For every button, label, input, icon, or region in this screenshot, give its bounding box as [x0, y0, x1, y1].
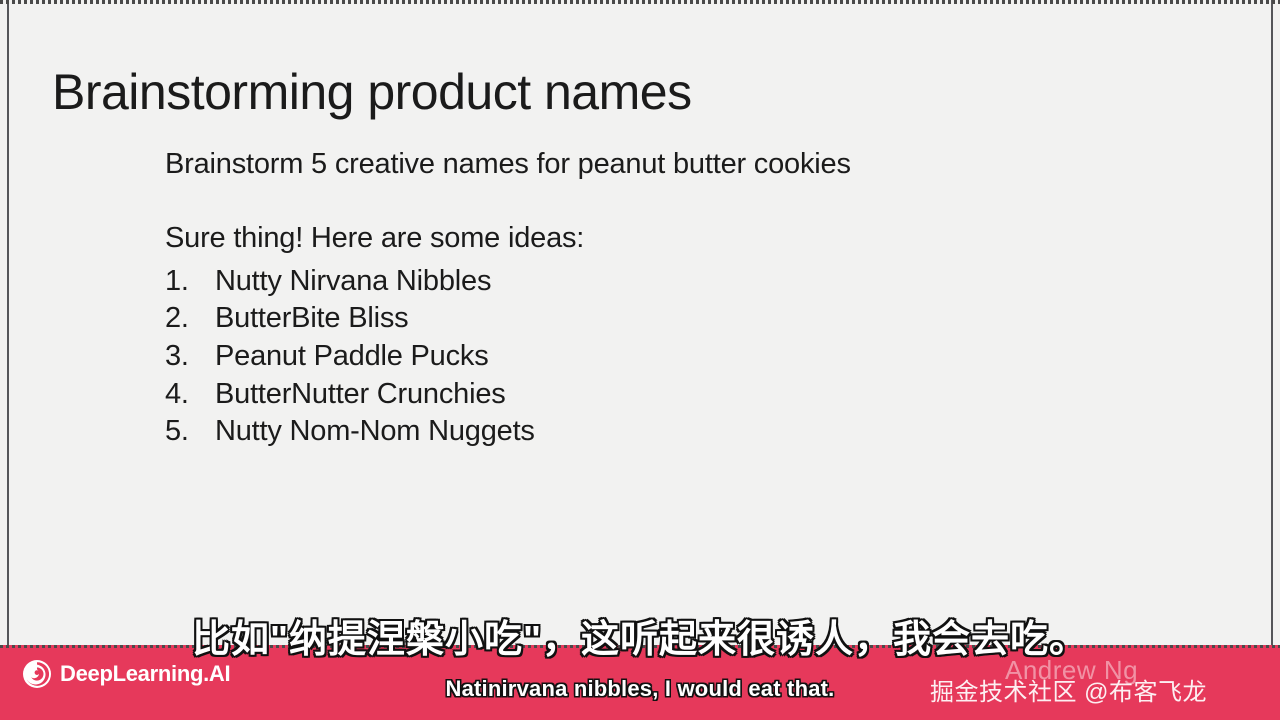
- subtitle-chinese: 比如"纳提涅槃小吃"，这听起来很诱人，我会去吃。: [0, 608, 1280, 663]
- assistant-intro-text: Sure thing! Here are some ideas:: [165, 220, 1165, 256]
- list-item-number: 4.: [165, 376, 215, 414]
- list-item: 4. ButterNutter Crunchies: [165, 376, 1165, 414]
- list-item: 5. Nutty Nom-Nom Nuggets: [165, 413, 1165, 451]
- list-item: 1. Nutty Nirvana Nibbles: [165, 263, 1165, 301]
- idea-list: 1. Nutty Nirvana Nibbles 2. ButterBite B…: [165, 263, 1165, 451]
- list-item-number: 2.: [165, 300, 215, 338]
- list-item-label: ButterBite Bliss: [215, 300, 408, 338]
- user-prompt-text: Brainstorm 5 creative names for peanut b…: [165, 146, 1165, 182]
- list-item-label: Nutty Nom-Nom Nuggets: [215, 413, 535, 451]
- slide-body: Brainstorm 5 creative names for peanut b…: [165, 146, 1165, 451]
- list-item-label: Nutty Nirvana Nibbles: [215, 263, 491, 301]
- list-item-number: 1.: [165, 263, 215, 301]
- list-item: 3. Peanut Paddle Pucks: [165, 338, 1165, 376]
- list-item-label: ButterNutter Crunchies: [215, 376, 506, 414]
- list-item-number: 3.: [165, 338, 215, 376]
- page-title: Brainstorming product names: [52, 64, 692, 120]
- subtitle-english: Natinirvana nibbles, I would eat that.: [0, 676, 1280, 702]
- presentation-slide: Brainstorming product names Brainstorm 5…: [0, 0, 1280, 645]
- list-item-number: 5.: [165, 413, 215, 451]
- list-item: 2. ButterBite Bliss: [165, 300, 1165, 338]
- frame-top-dotted-border: [0, 0, 1280, 4]
- frame-right-rule: [1271, 0, 1273, 645]
- list-item-label: Peanut Paddle Pucks: [215, 338, 489, 376]
- frame-left-rule: [7, 0, 9, 645]
- video-frame: Brainstorming product names Brainstorm 5…: [0, 0, 1280, 720]
